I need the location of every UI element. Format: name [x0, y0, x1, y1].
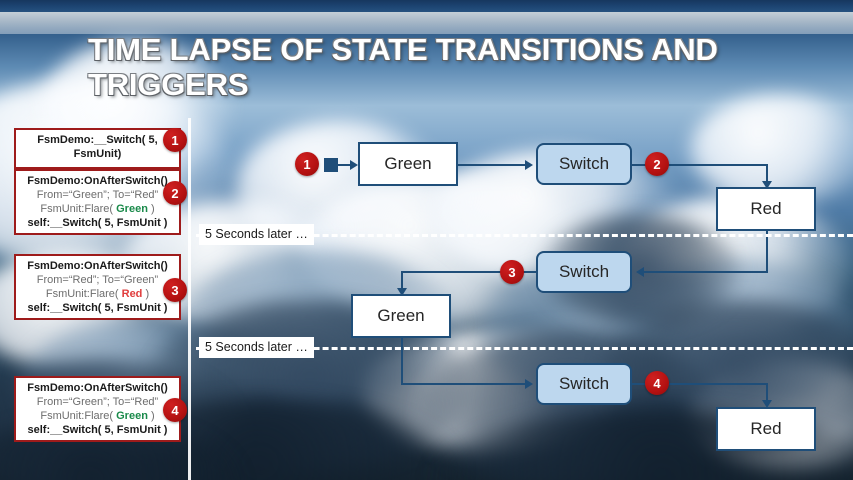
step-badge-4[interactable]: 4	[163, 398, 187, 422]
state-node-green-2[interactable]: Green	[351, 294, 451, 338]
code-line: self:__Switch( 5, FsmUnit )	[20, 423, 175, 437]
arrowhead-icon	[525, 379, 533, 389]
diagram-badge-4[interactable]: 4	[645, 371, 669, 395]
code-flare-suffix: )	[142, 288, 149, 300]
top-accent-band	[0, 0, 853, 12]
connector-red1-switch2-h	[644, 271, 768, 273]
switch-node-2[interactable]: Switch	[536, 251, 632, 293]
code-line: FsmDemo:OnAfterSwitch()	[20, 381, 175, 395]
arrowhead-icon	[350, 160, 358, 170]
code-line-flare: FsmUnit:Flare( Green )	[20, 202, 175, 216]
code-line: self:__Switch( 5, FsmUnit )	[20, 301, 175, 315]
code-keyword: Green	[116, 410, 148, 422]
time-label-2: 5 Seconds later …	[199, 337, 314, 358]
code-flare-prefix: FsmUnit:Flare(	[46, 288, 122, 300]
step-badge-2[interactable]: 2	[163, 181, 187, 205]
code-flare-suffix: )	[148, 203, 155, 215]
arrowhead-icon	[525, 160, 533, 170]
diagram-badge-2[interactable]: 2	[645, 152, 669, 176]
code-flare-prefix: FsmUnit:Flare(	[40, 203, 116, 215]
state-node-green-1[interactable]: Green	[358, 142, 458, 186]
connector-green2-switch3-h	[401, 383, 528, 385]
step-badge-1[interactable]: 1	[163, 128, 187, 152]
step-badge-3[interactable]: 3	[163, 278, 187, 302]
code-line-flare: FsmUnit:Flare( Red )	[20, 287, 175, 301]
connector-red1-switch2-v	[766, 231, 768, 272]
code-line: FsmUnit)	[20, 147, 175, 161]
start-node-icon	[324, 158, 338, 172]
switch-node-1[interactable]: Switch	[536, 143, 632, 185]
haze-band	[0, 12, 853, 34]
code-callout-4[interactable]: FsmDemo:OnAfterSwitch() From=“Green”; To…	[14, 376, 181, 442]
connector-green2-switch3-v	[401, 338, 403, 384]
code-keyword: Red	[122, 288, 143, 300]
code-callout-2[interactable]: FsmDemo:OnAfterSwitch() From=“Green”; To…	[14, 169, 181, 235]
code-keyword: Green	[116, 203, 148, 215]
diagram-badge-3[interactable]: 3	[500, 260, 524, 284]
arrowhead-icon	[636, 267, 644, 277]
code-line: FsmDemo:__Switch( 5,	[20, 133, 175, 147]
switch-node-3[interactable]: Switch	[536, 363, 632, 405]
page-title: Time Lapse of State Transitions and Trig…	[88, 32, 788, 102]
code-line-flare: FsmUnit:Flare( Green )	[20, 409, 175, 423]
panel-divider	[188, 118, 191, 480]
code-line: self:__Switch( 5, FsmUnit )	[20, 216, 175, 230]
code-flare-suffix: )	[148, 410, 155, 422]
connector-green-switch-1	[458, 164, 528, 166]
time-label-1: 5 Seconds later …	[199, 224, 314, 245]
code-callout-1[interactable]: FsmDemo:__Switch( 5, FsmUnit)	[14, 128, 181, 169]
state-node-red-1[interactable]: Red	[716, 187, 816, 231]
code-line: From=“Green”; To=“Red”	[20, 188, 175, 202]
code-line: From=“Red”; To=“Green”	[20, 273, 175, 287]
code-flare-prefix: FsmUnit:Flare(	[40, 410, 116, 422]
diagram-badge-1[interactable]: 1	[295, 152, 319, 176]
slide-canvas: Time Lapse of State Transitions and Trig…	[0, 0, 853, 480]
code-line: From=“Green”; To=“Red”	[20, 395, 175, 409]
code-callout-3[interactable]: FsmDemo:OnAfterSwitch() From=“Red”; To=“…	[14, 254, 181, 320]
state-node-red-2[interactable]: Red	[716, 407, 816, 451]
code-line: FsmDemo:OnAfterSwitch()	[20, 259, 175, 273]
code-line: FsmDemo:OnAfterSwitch()	[20, 174, 175, 188]
